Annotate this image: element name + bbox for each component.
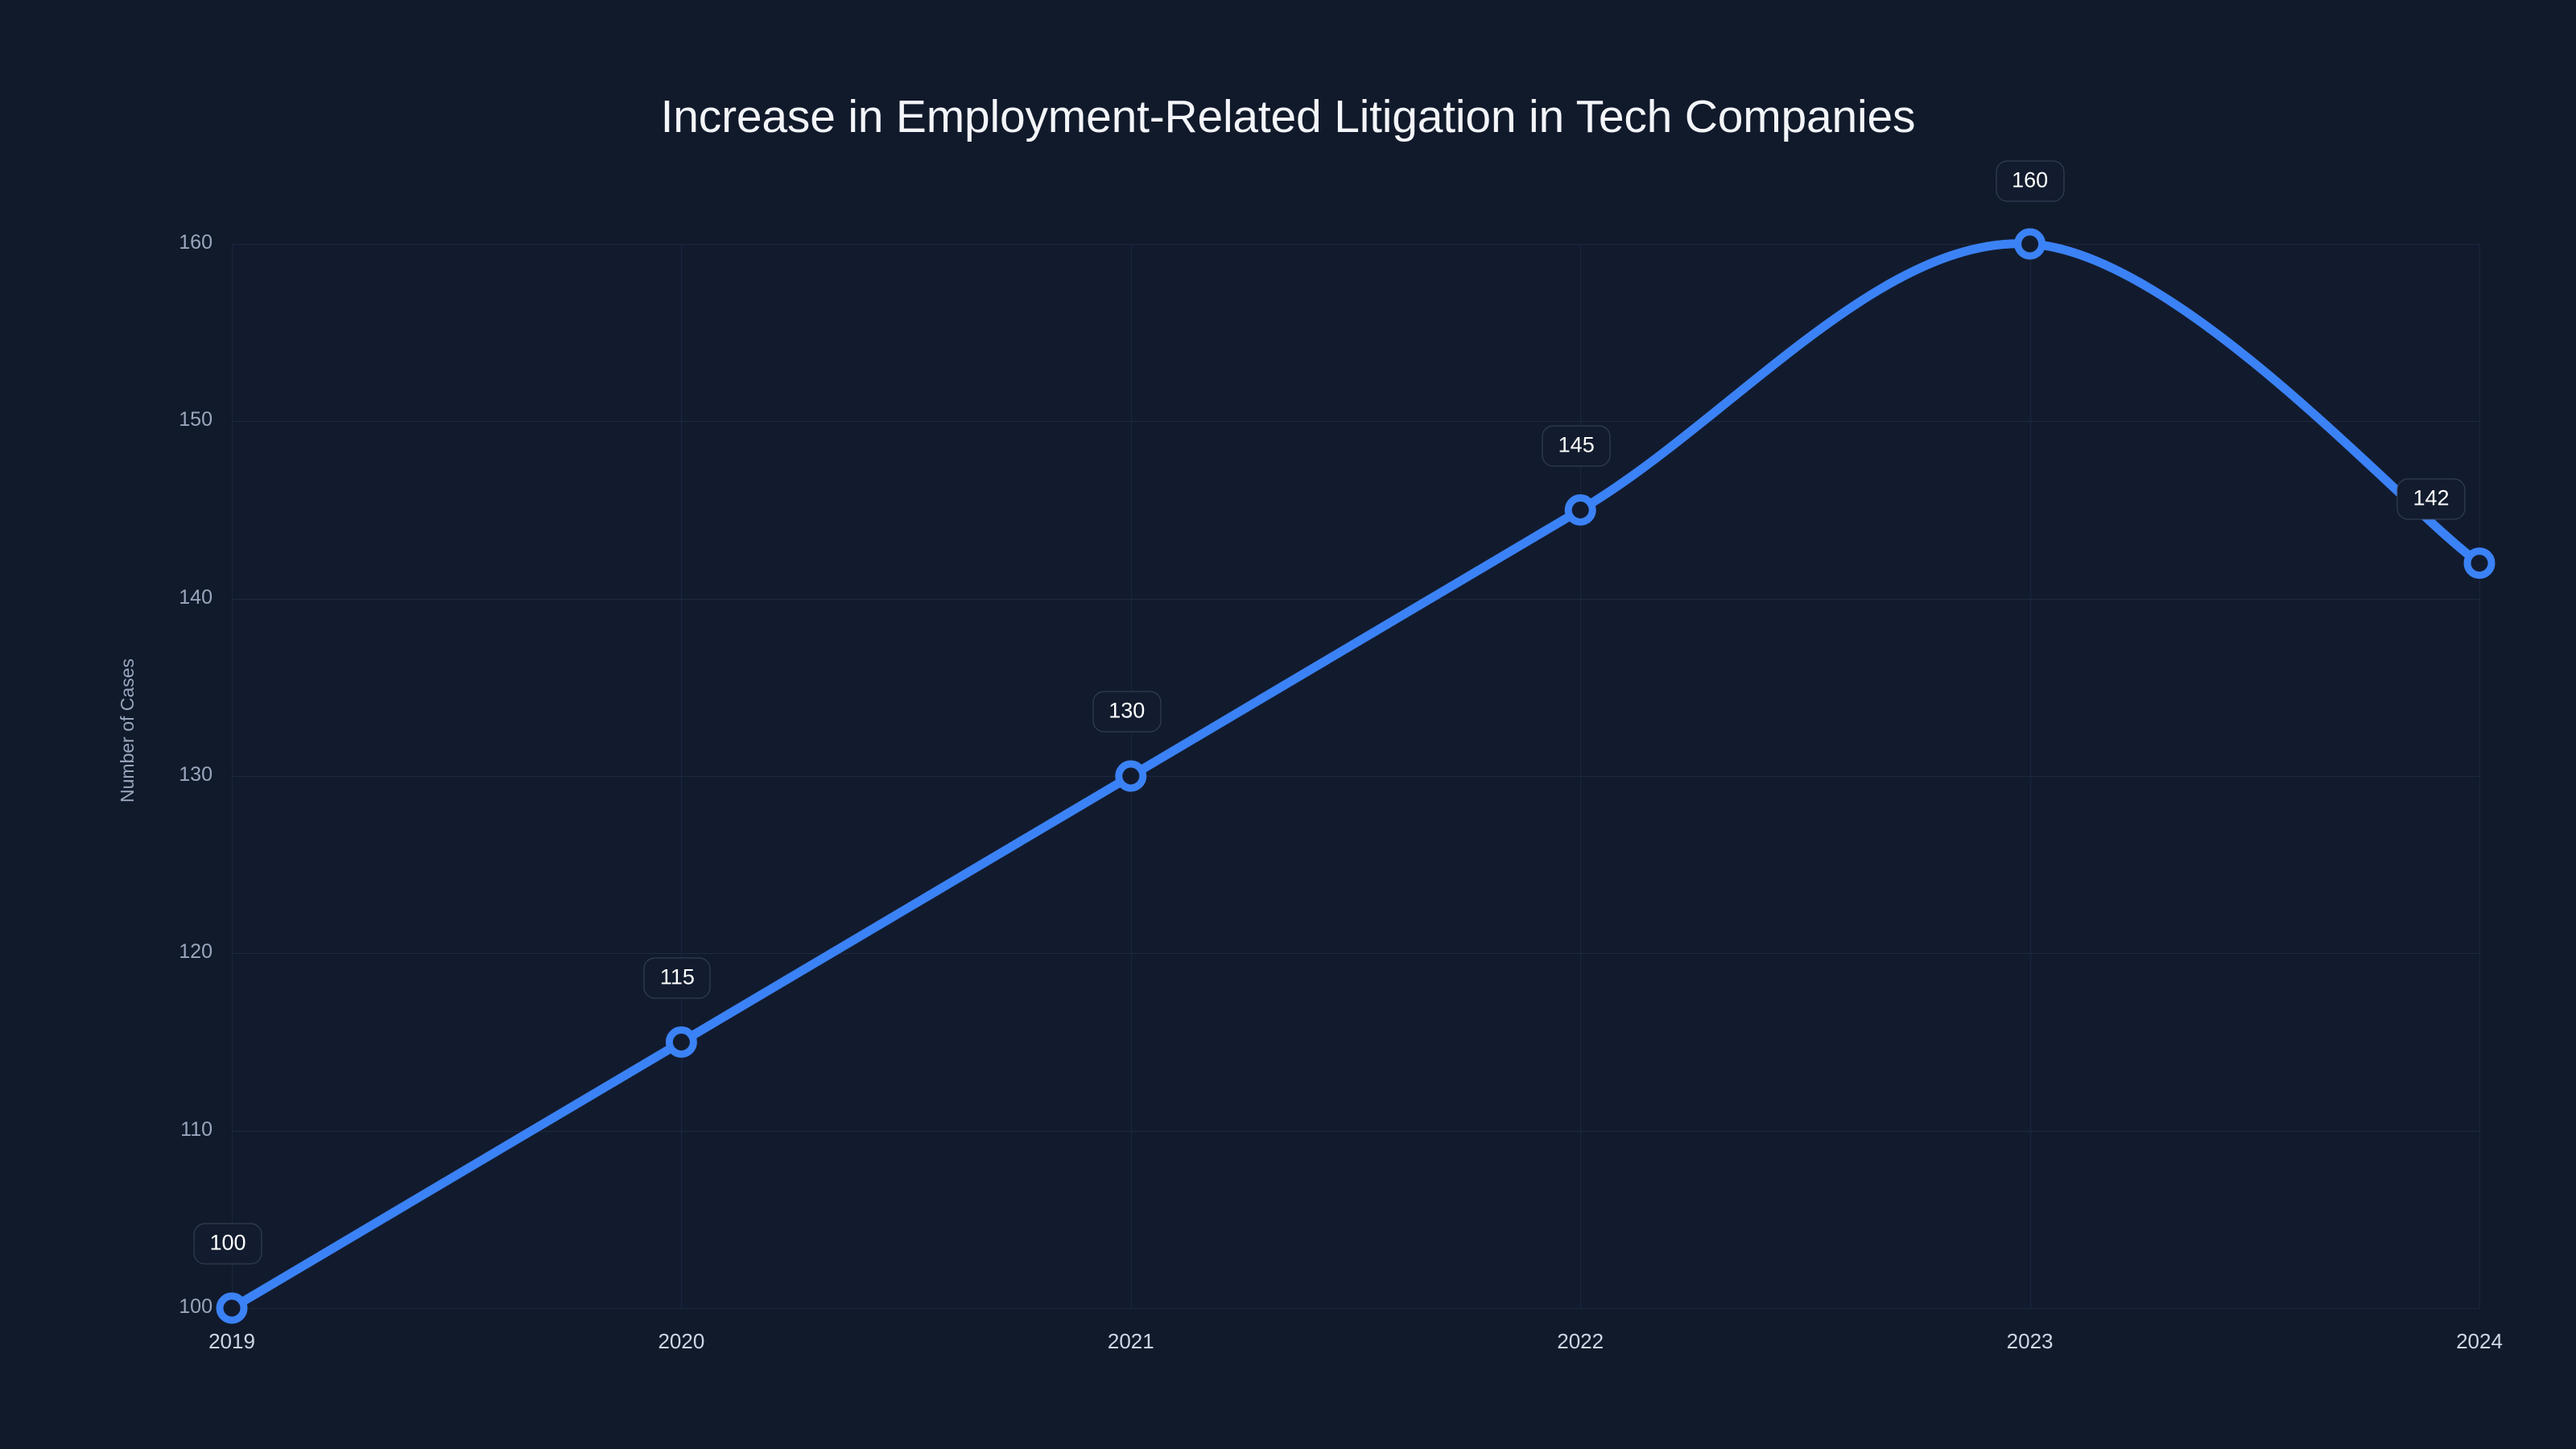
grid-line-horizontal xyxy=(232,421,2479,422)
x-axis-tick-label: 2020 xyxy=(658,1329,704,1354)
x-axis-tick-label: 2022 xyxy=(1557,1329,1604,1354)
chart-title: Increase in Employment-Related Litigatio… xyxy=(0,92,2576,142)
x-axis-tick-label: 2024 xyxy=(2456,1329,2503,1354)
y-axis-tick-label: 120 xyxy=(179,940,213,964)
grid-line-vertical xyxy=(2030,244,2031,1308)
y-axis-tick-label: 100 xyxy=(179,1295,213,1319)
grid-line-horizontal xyxy=(232,953,2479,954)
y-axis-tick-label: 110 xyxy=(180,1118,213,1141)
data-point-label: 142 xyxy=(2396,478,2465,519)
grid-line-horizontal xyxy=(232,244,2479,245)
grid-line-horizontal xyxy=(232,776,2479,777)
grid-line-horizontal xyxy=(232,1308,2479,1309)
data-point-label: 115 xyxy=(644,957,711,998)
y-axis-tick-label: 150 xyxy=(179,408,213,431)
data-point-label: 160 xyxy=(1996,161,2064,202)
y-axis-tick-label: 160 xyxy=(179,231,213,254)
grid-line-vertical xyxy=(1131,244,1132,1308)
chart-root: Increase in Employment-Related Litigatio… xyxy=(0,0,2576,1449)
data-point-label: 130 xyxy=(1092,691,1161,733)
y-axis-tick-label: 140 xyxy=(179,586,213,609)
grid-line-horizontal xyxy=(232,1131,2479,1132)
y-axis-tick-label: 130 xyxy=(179,763,213,786)
grid-line-vertical xyxy=(232,244,233,1308)
data-point-label: 145 xyxy=(1542,425,1611,466)
grid-line-horizontal xyxy=(232,599,2479,600)
x-axis-tick-label: 2023 xyxy=(2007,1329,2054,1354)
x-axis-tick-label: 2019 xyxy=(208,1329,255,1354)
x-axis-tick-label: 2021 xyxy=(1108,1329,1154,1354)
grid-line-vertical xyxy=(2479,244,2480,1308)
data-point-label: 100 xyxy=(193,1224,262,1265)
grid-line-vertical xyxy=(1580,244,1581,1308)
grid-line-vertical xyxy=(681,244,682,1308)
y-axis-title: Number of Cases xyxy=(117,658,138,803)
